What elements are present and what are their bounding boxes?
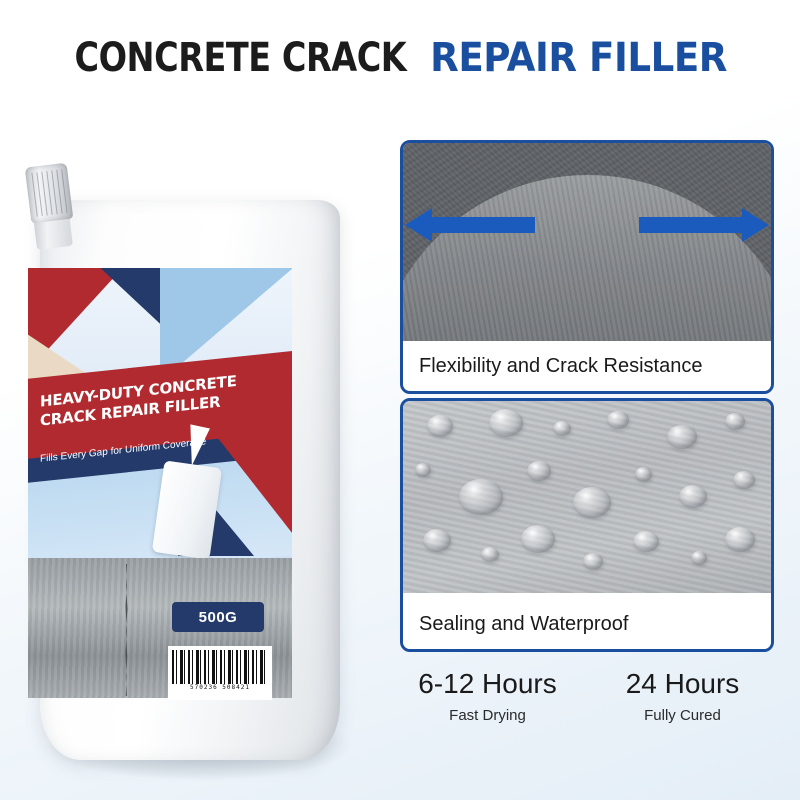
weight-badge: 500G [172,602,264,632]
concrete-dome-photo [403,143,771,335]
stat-fast-drying: 6-12 Hours Fast Drying [390,666,585,730]
product-pouch: HEAVY-DUTY CONCRETE CRACK REPAIR FILLER … [10,150,380,770]
page-title-dark-part: CONCRETE CRACK [75,34,407,82]
pouch-label-artwork: HEAVY-DUTY CONCRETE CRACK REPAIR FILLER … [28,268,292,558]
arrow-left-icon [431,217,535,233]
barcode: 570236 508421 [168,646,272,700]
page-title-blue-part: REPAIR FILLER [430,34,727,82]
arrow-right-icon [639,217,743,233]
feature-card-flexibility: Flexibility and Crack Resistance [400,140,774,394]
stat-value: 24 Hours [585,666,780,702]
pouch-cap-icon [25,163,74,224]
water-droplets-photo [403,401,771,593]
promo-image-canvas: CONCRETE CRACK REPAIR FILLER HEAVY-DUTY [0,0,800,800]
feature-card-caption: Sealing and Waterproof [403,599,771,649]
stat-value: 6-12 Hours [390,666,585,702]
stat-fully-cured: 24 Hours Fully Cured [585,666,780,730]
page-title: CONCRETE CRACK REPAIR FILLER [0,34,800,82]
barcode-digits: 570236 508421 [172,684,268,691]
feature-card-waterproof: Sealing and Waterproof [400,398,774,652]
feature-card-caption: Flexibility and Crack Resistance [403,341,771,391]
stats-row: 6-12 Hours Fast Drying 24 Hours Fully Cu… [390,666,780,730]
barcode-bars [172,650,268,684]
stat-label: Fast Drying [390,702,585,730]
applicator-tube-illustration [152,460,222,558]
stat-label: Fully Cured [585,702,780,730]
